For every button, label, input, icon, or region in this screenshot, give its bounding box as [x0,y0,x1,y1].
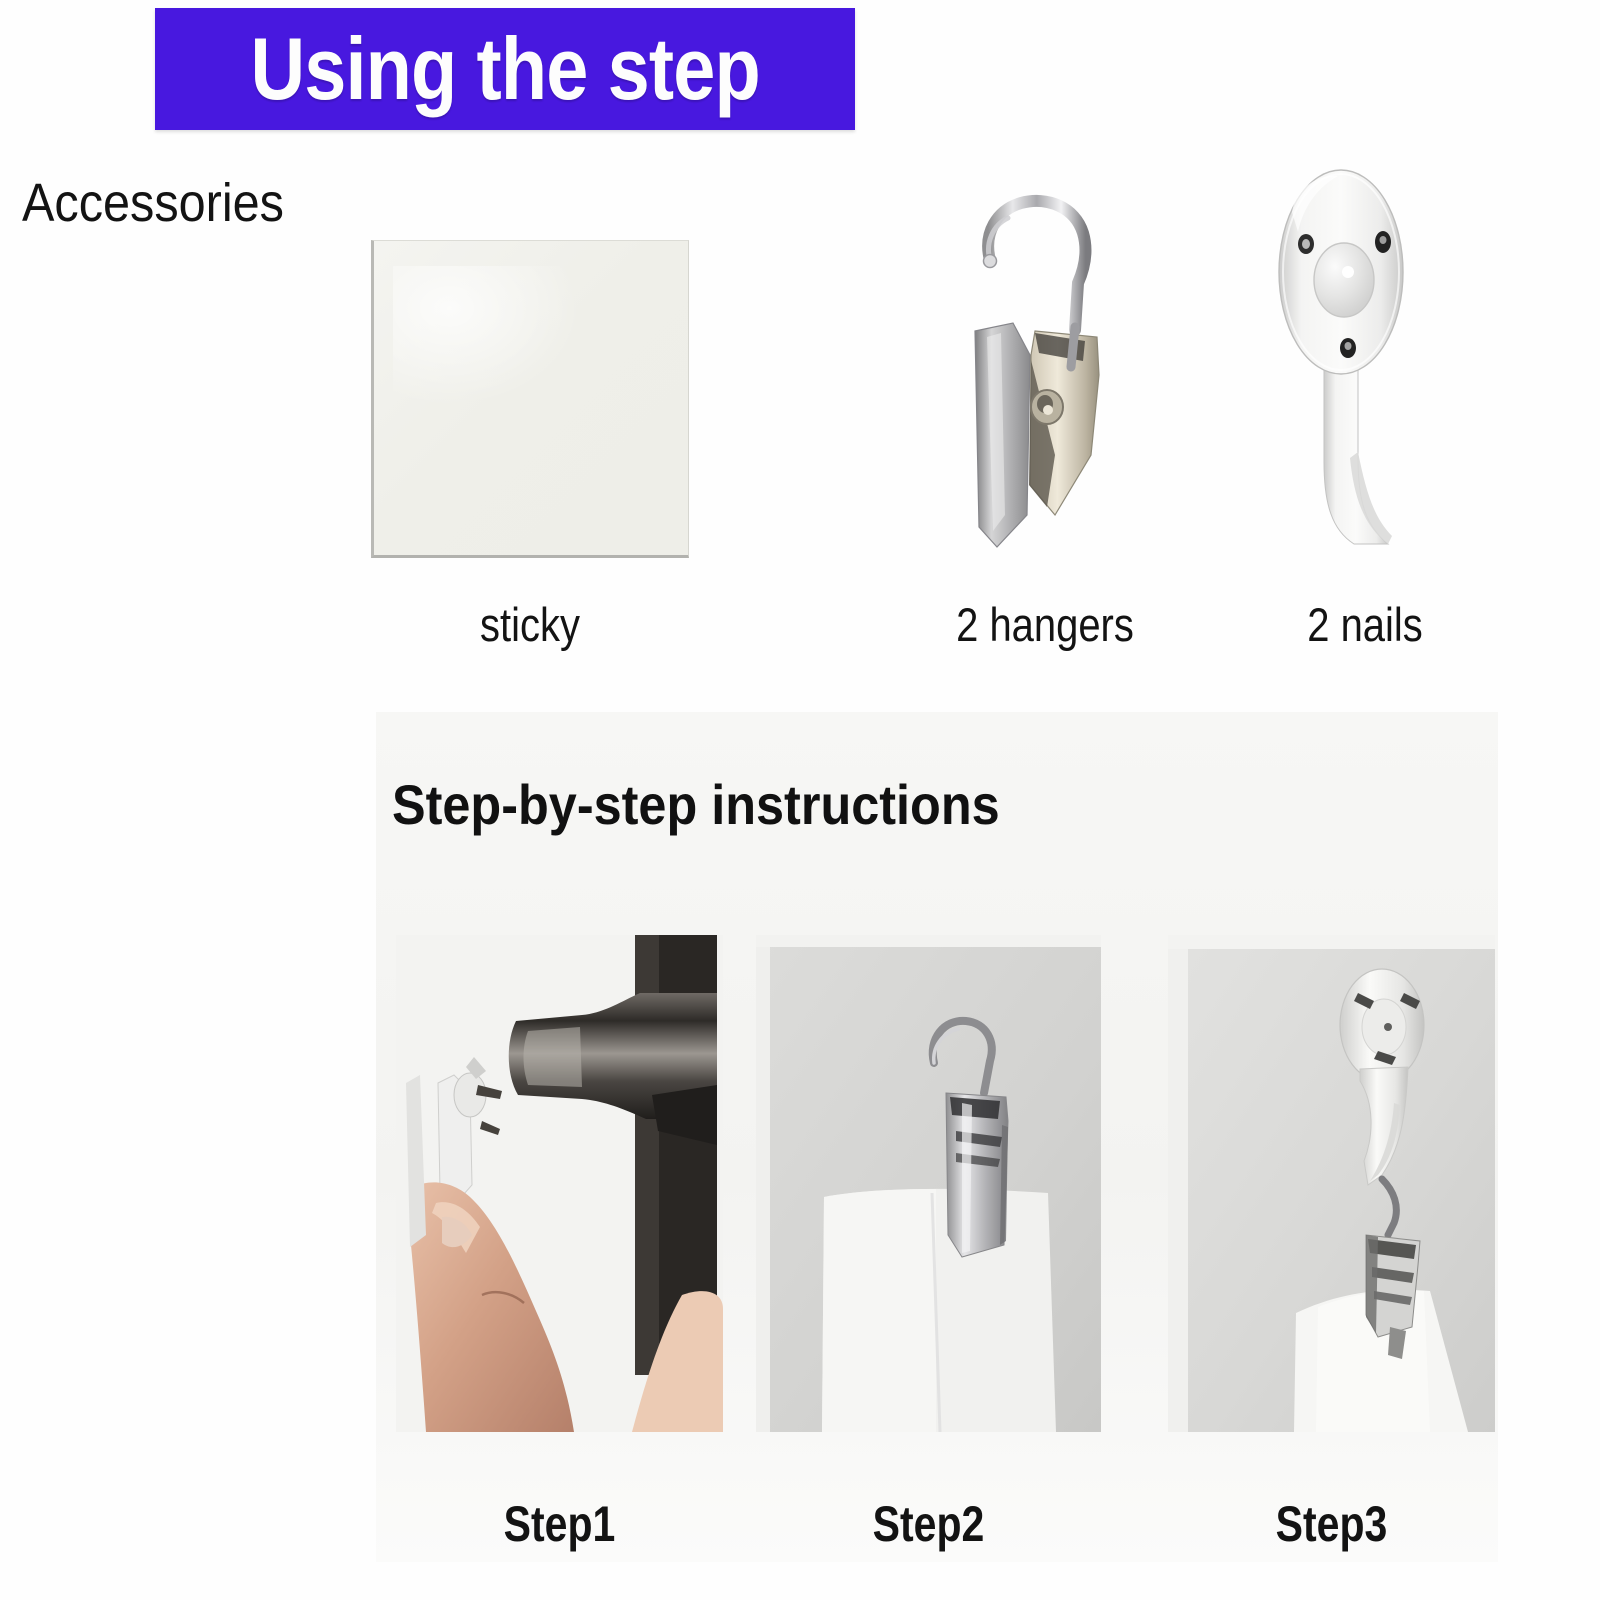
step-photo-2 [756,935,1101,1432]
title-banner: Using the step [155,8,855,130]
accessories-heading: Accessories [22,172,284,234]
accessory-label-sticky: sticky [395,597,665,652]
page-title: Using the step [250,25,759,113]
step-label-3: Step3 [1197,1495,1465,1553]
step-label-1: Step1 [425,1495,693,1553]
metal-hook-clip-icon [935,155,1150,555]
adhesive-pad-icon [371,240,689,558]
accessory-label-nails: 2 nails [1263,597,1467,652]
step-label-2: Step2 [787,1495,1070,1553]
instructions-heading: Step-by-step instructions [392,772,1000,837]
step-photo-1 [396,935,723,1432]
infographic-page: Using the step Accessories sticky [0,0,1600,1600]
step-photo-3 [1168,935,1495,1432]
white-wall-hook-icon [1262,152,1462,564]
accessory-label-hangers: 2 hangers [926,597,1164,652]
